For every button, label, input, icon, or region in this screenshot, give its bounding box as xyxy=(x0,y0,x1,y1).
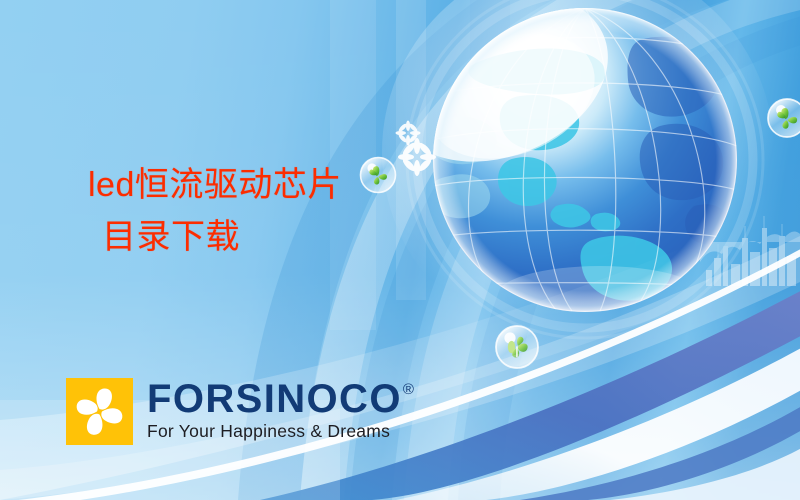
brand-logo[interactable]: FORSINOCO ® For Your Happiness & Dreams xyxy=(66,378,415,445)
headline-line-1: led恒流驱动芯片 xyxy=(88,166,342,204)
wordmark-text: FORSINOCO xyxy=(147,380,402,419)
four-petal-pinwheel-icon xyxy=(66,378,133,445)
continent-shadow xyxy=(628,37,730,244)
promo-banner: led恒流驱动芯片 目录下载 FORSINOCO ® For Your Happ… xyxy=(0,0,800,500)
logo-wordmark: FORSINOCO ® xyxy=(147,380,415,419)
bubble-icon xyxy=(496,326,538,368)
bubble-icon xyxy=(768,99,800,137)
green-pinwheel-icon xyxy=(508,337,528,358)
page-title: led恒流驱动芯片 目录下载 xyxy=(88,160,508,263)
logo-text-block: FORSINOCO ® For Your Happiness & Dreams xyxy=(147,378,415,441)
starburst-icon xyxy=(395,120,420,145)
logo-tagline: For Your Happiness & Dreams xyxy=(147,422,415,440)
green-pinwheel-icon xyxy=(777,108,797,129)
registered-trademark-symbol: ® xyxy=(403,382,415,397)
city-skyline-icon xyxy=(700,216,800,286)
headline-line-2: 目录下载 xyxy=(88,212,508,264)
